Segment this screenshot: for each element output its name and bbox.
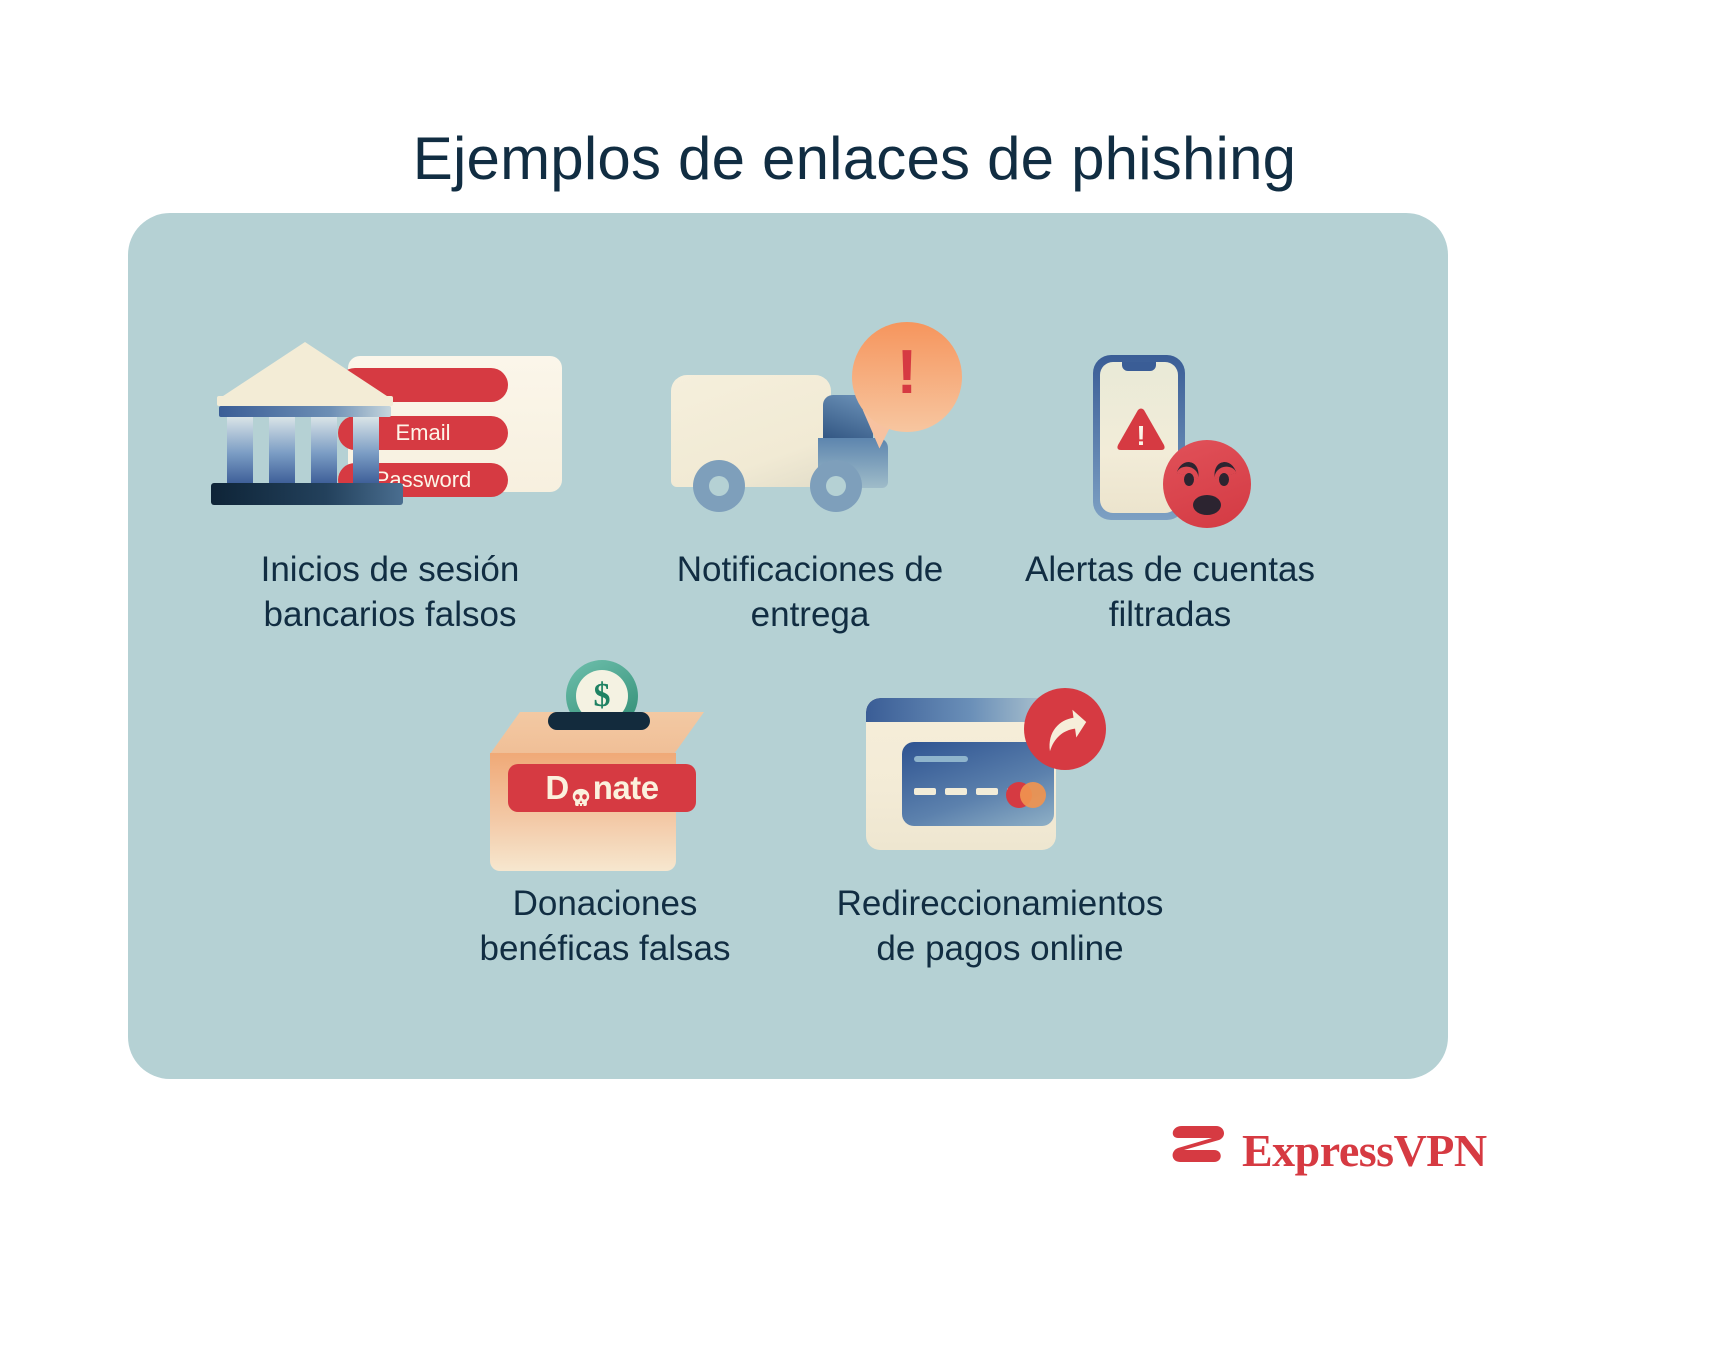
phone-notch	[1122, 362, 1156, 371]
caption-online-payment-redirects: Redireccionamientos de pagos online	[770, 882, 1230, 972]
logo-text: ExpressVPN	[1242, 1124, 1487, 1177]
expressvpn-logo: ExpressVPN	[1168, 1110, 1488, 1190]
sad-mouth	[1193, 495, 1221, 515]
credit-card	[902, 742, 1054, 826]
sad-eye-right	[1219, 473, 1229, 486]
delivery-truck-alert-icon: !	[668, 320, 968, 520]
bank-login-icon: Email Password	[217, 336, 562, 506]
truck-wheel	[810, 460, 862, 512]
donate-label-suffix: nate	[593, 769, 659, 807]
sad-eye-left	[1184, 473, 1194, 486]
warning-exclamation: !	[1136, 422, 1146, 450]
donation-box-slot	[548, 712, 650, 730]
bank-base	[211, 483, 403, 505]
sad-face-icon	[1163, 440, 1251, 528]
donation-box-skull-icon: $ D nate	[490, 660, 710, 870]
truck-wheel	[693, 460, 745, 512]
bank-column	[311, 417, 337, 483]
caption-fake-bank-logins: Inicios de sesión bancarios falsos	[150, 548, 630, 638]
truck-cargo-box	[671, 375, 831, 487]
caption-breached-account-alerts: Alertas de cuentas filtradas	[975, 548, 1365, 638]
donate-label-prefix: D	[545, 769, 568, 807]
curved-arrow-icon	[1041, 705, 1089, 753]
card-brand-circle-orange	[1020, 782, 1046, 808]
donate-banner: D nate	[508, 764, 696, 812]
page-title: Ejemplos de enlaces de phishing	[0, 124, 1709, 193]
exclamation-mark-icon: !	[896, 342, 918, 404]
bank-column	[227, 417, 253, 483]
caption-fake-charity-donations: Donaciones benéficas falsas	[410, 882, 800, 972]
redirect-arrow-badge	[1024, 688, 1106, 770]
card-strip	[914, 756, 968, 762]
bank-architrave	[219, 406, 391, 417]
bank-roof-ledge	[217, 396, 393, 406]
bank-column	[269, 417, 295, 483]
phone-warning-sad-face-icon: !	[1093, 355, 1313, 535]
payment-redirect-icon	[866, 688, 1136, 868]
bank-column	[353, 417, 379, 483]
expressvpn-e-mark-icon	[1168, 1124, 1228, 1176]
bank-roof	[217, 342, 393, 400]
skull-icon	[570, 780, 592, 802]
caption-delivery-notifications: Notificaciones de entrega	[590, 548, 1030, 638]
